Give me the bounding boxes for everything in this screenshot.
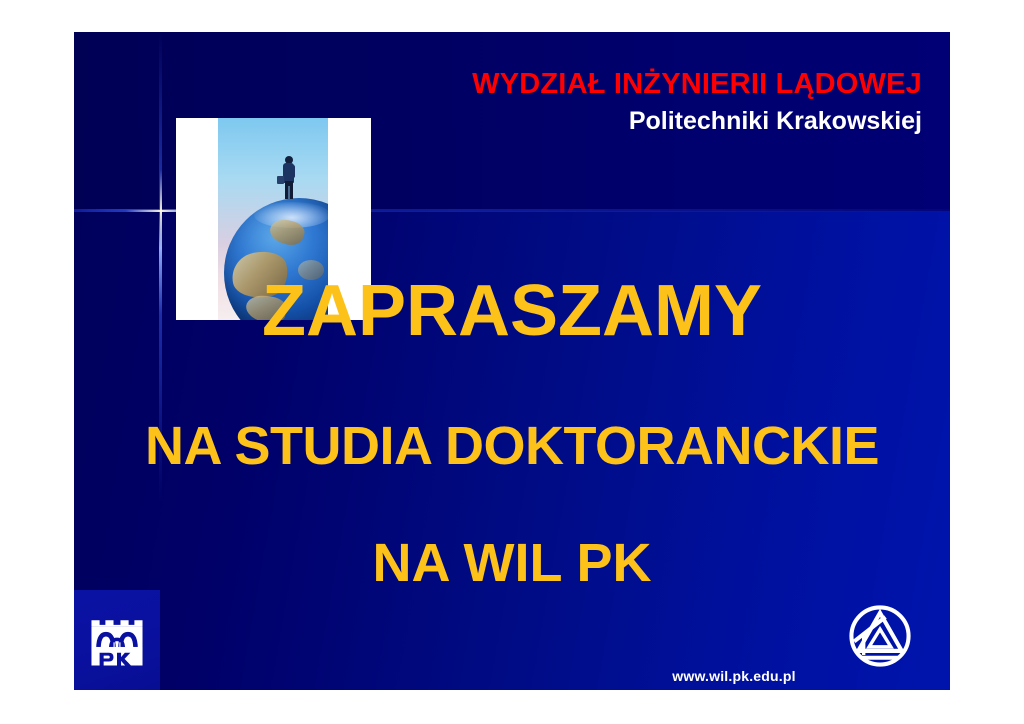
- headline-line-3: NA WIL PK: [74, 532, 950, 594]
- pk-castle-logo-icon: [88, 611, 146, 669]
- figure-briefcase: [277, 176, 284, 184]
- faculty-title: WYDZIAŁ INŻYNIERII LĄDOWEJ: [74, 68, 922, 100]
- website-url[interactable]: www.wil.pk.edu.pl: [634, 668, 834, 684]
- headline-line-1: ZAPRASZAMY: [74, 270, 950, 352]
- pk-logo-box: [74, 590, 160, 690]
- businessman-figure: [280, 156, 298, 202]
- figure-leg-gap: [288, 186, 290, 199]
- slide-canvas: WYDZIAŁ INŻYNIERII LĄDOWEJ Politechniki …: [74, 32, 950, 690]
- presentation-page: WYDZIAŁ INŻYNIERII LĄDOWEJ Politechniki …: [0, 0, 1024, 724]
- pzitb-circle-triangle-logo-icon: [846, 602, 914, 670]
- figure-arm: [291, 165, 295, 178]
- headline-line-2: NA STUDIA DOKTORANCKIE: [74, 415, 950, 477]
- sparkle-star-icon: [160, 210, 161, 211]
